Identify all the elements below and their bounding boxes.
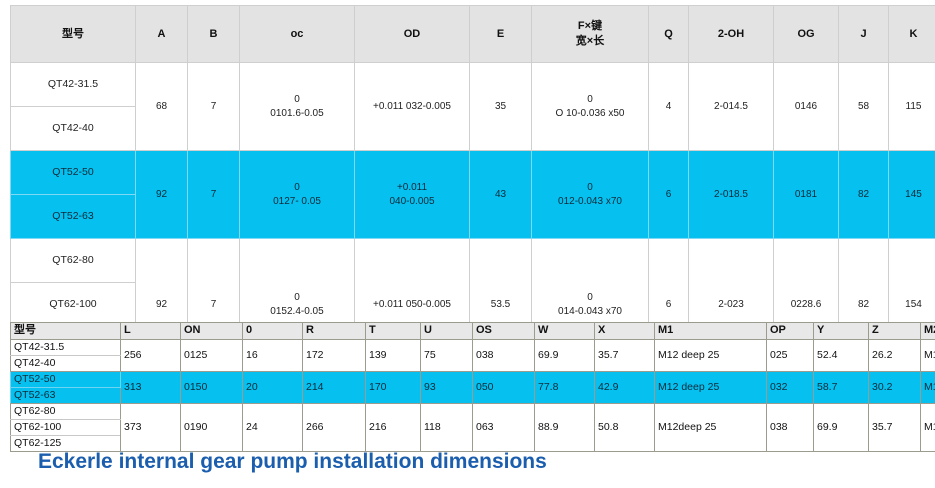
th2-l: L [121, 323, 181, 340]
cell-r: 266 [303, 404, 366, 452]
cell-m1: M12 deep 25 [655, 372, 767, 404]
cell-m2: M12 deep 25 [921, 404, 935, 452]
table-row: QT42-31.5 256 0125 16 172 139 75 038 69.… [11, 340, 935, 356]
cell-oc: 0 0101.6-0.05 [240, 63, 355, 151]
cell-t: 170 [366, 372, 421, 404]
cell-os: 038 [473, 340, 535, 372]
cell-t: 216 [366, 404, 421, 452]
cell-a: 68 [136, 63, 188, 151]
cell-x: 42.9 [595, 372, 655, 404]
cell-model: QT42-40 [11, 107, 136, 151]
cell-e: 43 [470, 151, 532, 239]
cell-w: 69.9 [535, 340, 595, 372]
th2-y: Y [814, 323, 869, 340]
table-row-highlighted: QT52-50 92 7 0 0127- 0.05 +0.011 040-0.0… [11, 151, 935, 195]
cell-on: 0190 [181, 404, 243, 452]
th-k: K [889, 6, 935, 63]
cell-on: 0150 [181, 372, 243, 404]
th-2oh: 2-OH [689, 6, 774, 63]
cell-u: 75 [421, 340, 473, 372]
cell-o: 20 [243, 372, 303, 404]
cell-l: 313 [121, 372, 181, 404]
cell-2oh: 2-018.5 [689, 151, 774, 239]
cell-z: 30.2 [869, 372, 921, 404]
th-e: E [470, 6, 532, 63]
th-b: B [188, 6, 240, 63]
th-og: OG [774, 6, 839, 63]
th-oc: oc [240, 6, 355, 63]
cell-k: 145 [889, 151, 935, 239]
cell-model: QT62-100 [11, 283, 136, 327]
cell-b: 7 [188, 151, 240, 239]
cell-model: QT62-100 [11, 420, 121, 436]
cell-model: QT52-63 [11, 195, 136, 239]
cell-op: 025 [767, 340, 814, 372]
cell-2oh: 2-014.5 [689, 63, 774, 151]
th2-on: ON [181, 323, 243, 340]
cell-l: 373 [121, 404, 181, 452]
table-row: QT62-80 92 7 0 0152.4-0.05 +0.011 050-0.… [11, 239, 935, 283]
cell-y: 69.9 [814, 404, 869, 452]
bottom-dimensions-table: 型号 L ON 0 R T U OS W X M1 OP Y Z M2 QT42… [10, 322, 935, 452]
th2-u: U [421, 323, 473, 340]
cell-q: 6 [649, 151, 689, 239]
cell-od: +0.011 032-0.005 [355, 63, 470, 151]
cell-x: 50.8 [595, 404, 655, 452]
cell-og: 0181 [774, 151, 839, 239]
cell-model: QT52-50 [11, 372, 121, 388]
cell-l: 256 [121, 340, 181, 372]
cell-y: 52.4 [814, 340, 869, 372]
cell-b: 7 [188, 63, 240, 151]
th2-r: R [303, 323, 366, 340]
cell-m1: M12deep 25 [655, 404, 767, 452]
cell-og: 0146 [774, 63, 839, 151]
page-title: Eckerle internal gear pump installation … [38, 450, 547, 474]
bottom-dimensions-table-container: 型号 L ON 0 R T U OS W X M1 OP Y Z M2 QT42… [10, 322, 925, 452]
cell-o: 16 [243, 340, 303, 372]
cell-os: 050 [473, 372, 535, 404]
cell-f: 0 O 10-0.036 x50 [532, 63, 649, 151]
cell-model: QT52-50 [11, 151, 136, 195]
cell-e: 35 [470, 63, 532, 151]
cell-w: 77.8 [535, 372, 595, 404]
table-row: QT42-31.5 68 7 0 0101.6-0.05 +0.011 032-… [11, 63, 935, 107]
cell-u: 93 [421, 372, 473, 404]
cell-oc: 0 0127- 0.05 [240, 151, 355, 239]
th2-m2: M2 [921, 323, 935, 340]
cell-m2: M10 deep 20 [921, 372, 935, 404]
th-model: 型号 [11, 6, 136, 63]
table-row-highlighted: QT52-50 313 0150 20 214 170 93 050 77.8 … [11, 372, 935, 388]
cell-z: 35.7 [869, 404, 921, 452]
cell-model: QT62-80 [11, 239, 136, 283]
table-row: QT62-80 373 0190 24 266 216 118 063 88.9… [11, 404, 935, 420]
cell-op: 038 [767, 404, 814, 452]
th2-o: 0 [243, 323, 303, 340]
cell-model: QT42-31.5 [11, 63, 136, 107]
top-table-header-row: 型号 A B oc OD E F×键 宽×长 Q 2-OH OG J K V [11, 6, 935, 63]
th2-w: W [535, 323, 595, 340]
th-j: J [839, 6, 889, 63]
cell-z: 26.2 [869, 340, 921, 372]
cell-k: 115 [889, 63, 935, 151]
top-dimensions-table-container: 型号 A B oc OD E F×键 宽×长 Q 2-OH OG J K V Q… [10, 5, 925, 371]
bottom-table-header-row: 型号 L ON 0 R T U OS W X M1 OP Y Z M2 [11, 323, 935, 340]
cell-a: 92 [136, 151, 188, 239]
cell-w: 88.9 [535, 404, 595, 452]
cell-x: 35.7 [595, 340, 655, 372]
th-f-key: F×键 宽×长 [532, 6, 649, 63]
th2-op: OP [767, 323, 814, 340]
cell-m1: M12 deep 25 [655, 340, 767, 372]
cell-os: 063 [473, 404, 535, 452]
cell-j: 82 [839, 151, 889, 239]
top-dimensions-table: 型号 A B oc OD E F×键 宽×长 Q 2-OH OG J K V Q… [10, 5, 935, 371]
cell-o: 24 [243, 404, 303, 452]
th-a: A [136, 6, 188, 63]
cell-q: 4 [649, 63, 689, 151]
th2-os: OS [473, 323, 535, 340]
cell-model: QT42-31.5 [11, 340, 121, 356]
cell-r: 214 [303, 372, 366, 404]
th-q: Q [649, 6, 689, 63]
cell-model: QT62-80 [11, 404, 121, 420]
cell-j: 58 [839, 63, 889, 151]
th2-model: 型号 [11, 323, 121, 340]
th-od: OD [355, 6, 470, 63]
cell-r: 172 [303, 340, 366, 372]
cell-y: 58.7 [814, 372, 869, 404]
cell-model: QT42-40 [11, 356, 121, 372]
th2-m1: M1 [655, 323, 767, 340]
cell-on: 0125 [181, 340, 243, 372]
th2-x: X [595, 323, 655, 340]
cell-od: +0.011 040-0.005 [355, 151, 470, 239]
cell-u: 118 [421, 404, 473, 452]
cell-f: 0 012-0.043 x70 [532, 151, 649, 239]
cell-t: 139 [366, 340, 421, 372]
th2-t: T [366, 323, 421, 340]
cell-m2: M10 deep 20 [921, 340, 935, 372]
th2-z: Z [869, 323, 921, 340]
cell-op: 032 [767, 372, 814, 404]
cell-model: QT52-63 [11, 388, 121, 404]
